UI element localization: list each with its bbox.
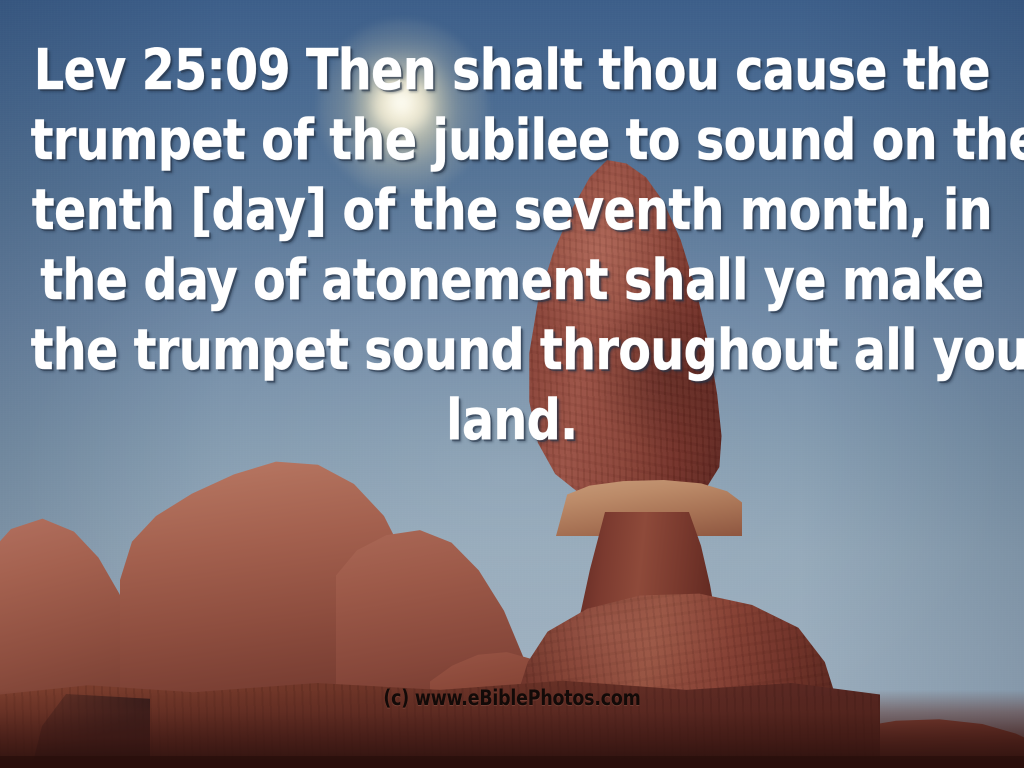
verse-line-2: trumpet of the jubilee to sound on the bbox=[31, 106, 994, 176]
verse-line-3: tenth [day] of the seventh month, in bbox=[31, 176, 994, 246]
verse-line-6: land. bbox=[31, 386, 994, 456]
verse-line-1: Lev 25:09 Then shalt thou cause the bbox=[31, 36, 994, 106]
bottom-edge-shadow bbox=[0, 756, 1024, 768]
verse-line-4: the day of atonement shall ye make bbox=[31, 246, 994, 316]
copyright-watermark: (c) www.eBiblePhotos.com bbox=[41, 686, 983, 710]
scripture-photo-image: Lev 25:09 Then shalt thou cause the trum… bbox=[0, 0, 1024, 768]
verse-text-overlay: Lev 25:09 Then shalt thou cause the trum… bbox=[31, 36, 994, 456]
verse-line-5: the trumpet sound throughout all your bbox=[31, 316, 994, 386]
